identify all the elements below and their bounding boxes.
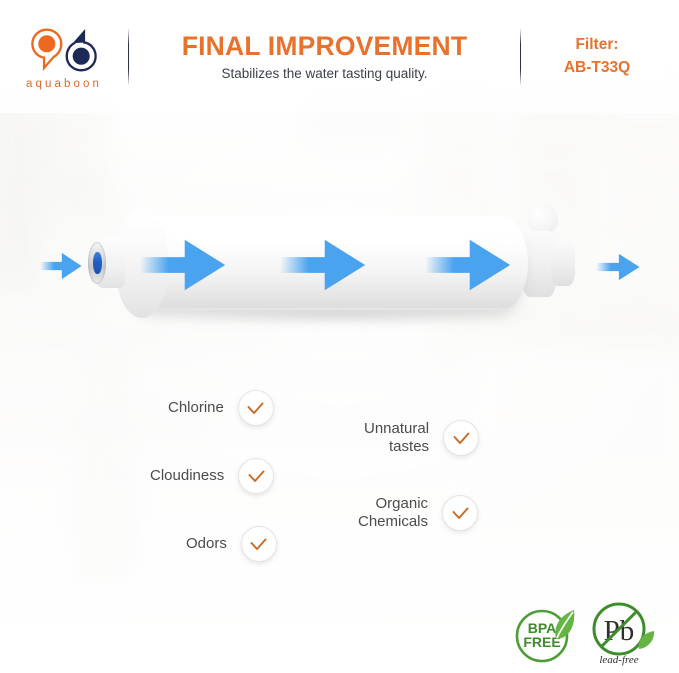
check-icon bbox=[247, 402, 264, 415]
benefit-cloudiness-label: Cloudiness bbox=[150, 467, 224, 485]
bpa-free-badge-icon: BPA FREE bbox=[512, 601, 578, 667]
brand-wordmark: aquaboon bbox=[26, 78, 102, 90]
flow-arrow-1 bbox=[140, 238, 226, 292]
cartridge-outlet-port bbox=[551, 242, 575, 286]
bpa-free-line2: FREE bbox=[523, 634, 560, 650]
benefit-cloudiness-check bbox=[238, 458, 274, 494]
check-icon bbox=[452, 507, 469, 520]
lead-free-caption: lead-free bbox=[599, 654, 638, 666]
benefit-unnatural-tastes-check bbox=[443, 420, 479, 456]
benefit-organic-chemicals-label: Organic Chemicals bbox=[358, 495, 428, 530]
benefit-chlorine-check bbox=[238, 390, 274, 426]
brand-logo: aquaboon bbox=[0, 24, 128, 90]
check-icon bbox=[453, 432, 470, 445]
benefit-unnatural-tastes-label: Unnatural tastes bbox=[364, 420, 429, 455]
flow-arrow-inlet bbox=[40, 252, 82, 280]
benefit-chlorine-label: Chlorine bbox=[168, 399, 224, 417]
check-icon bbox=[248, 470, 265, 483]
filter-label: Filter: bbox=[521, 34, 673, 56]
cartridge-inlet-blue-port bbox=[93, 252, 102, 274]
flow-arrow-outlet bbox=[596, 253, 640, 281]
certification-badges: BPA FREE Pb lead-free bbox=[512, 598, 662, 670]
benefit-chlorine: Chlorine bbox=[168, 390, 274, 426]
benefit-organic-chemicals: Organic Chemicals bbox=[358, 495, 478, 531]
lead-free-badge-icon: Pb lead-free bbox=[586, 599, 658, 669]
benefit-cloudiness: Cloudiness bbox=[150, 458, 274, 494]
page-title: FINAL IMPROVEMENT bbox=[139, 32, 510, 61]
check-icon bbox=[250, 538, 267, 551]
flow-arrow-3 bbox=[425, 238, 511, 292]
page-subtitle: Stabilizes the water tasting quality. bbox=[139, 66, 510, 81]
benefit-organic-chemicals-check bbox=[442, 495, 478, 531]
filter-model-block: Filter: AB-T33Q bbox=[521, 34, 679, 79]
product-infographic: aquaboon FINAL IMPROVEMENT Stabilizes th… bbox=[0, 0, 679, 673]
benefit-odors: Odors bbox=[186, 526, 277, 562]
benefit-odors-check bbox=[241, 526, 277, 562]
title-block: FINAL IMPROVEMENT Stabilizes the water t… bbox=[129, 32, 520, 81]
benefit-odors-label: Odors bbox=[186, 535, 227, 553]
flow-arrow-2 bbox=[280, 238, 366, 292]
filter-model-code: AB-T33Q bbox=[521, 57, 673, 79]
header-bar: aquaboon FINAL IMPROVEMENT Stabilizes th… bbox=[0, 0, 679, 113]
aquaboon-droplet-logo-icon bbox=[31, 28, 97, 72]
benefit-unnatural-tastes: Unnatural tastes bbox=[364, 420, 479, 456]
